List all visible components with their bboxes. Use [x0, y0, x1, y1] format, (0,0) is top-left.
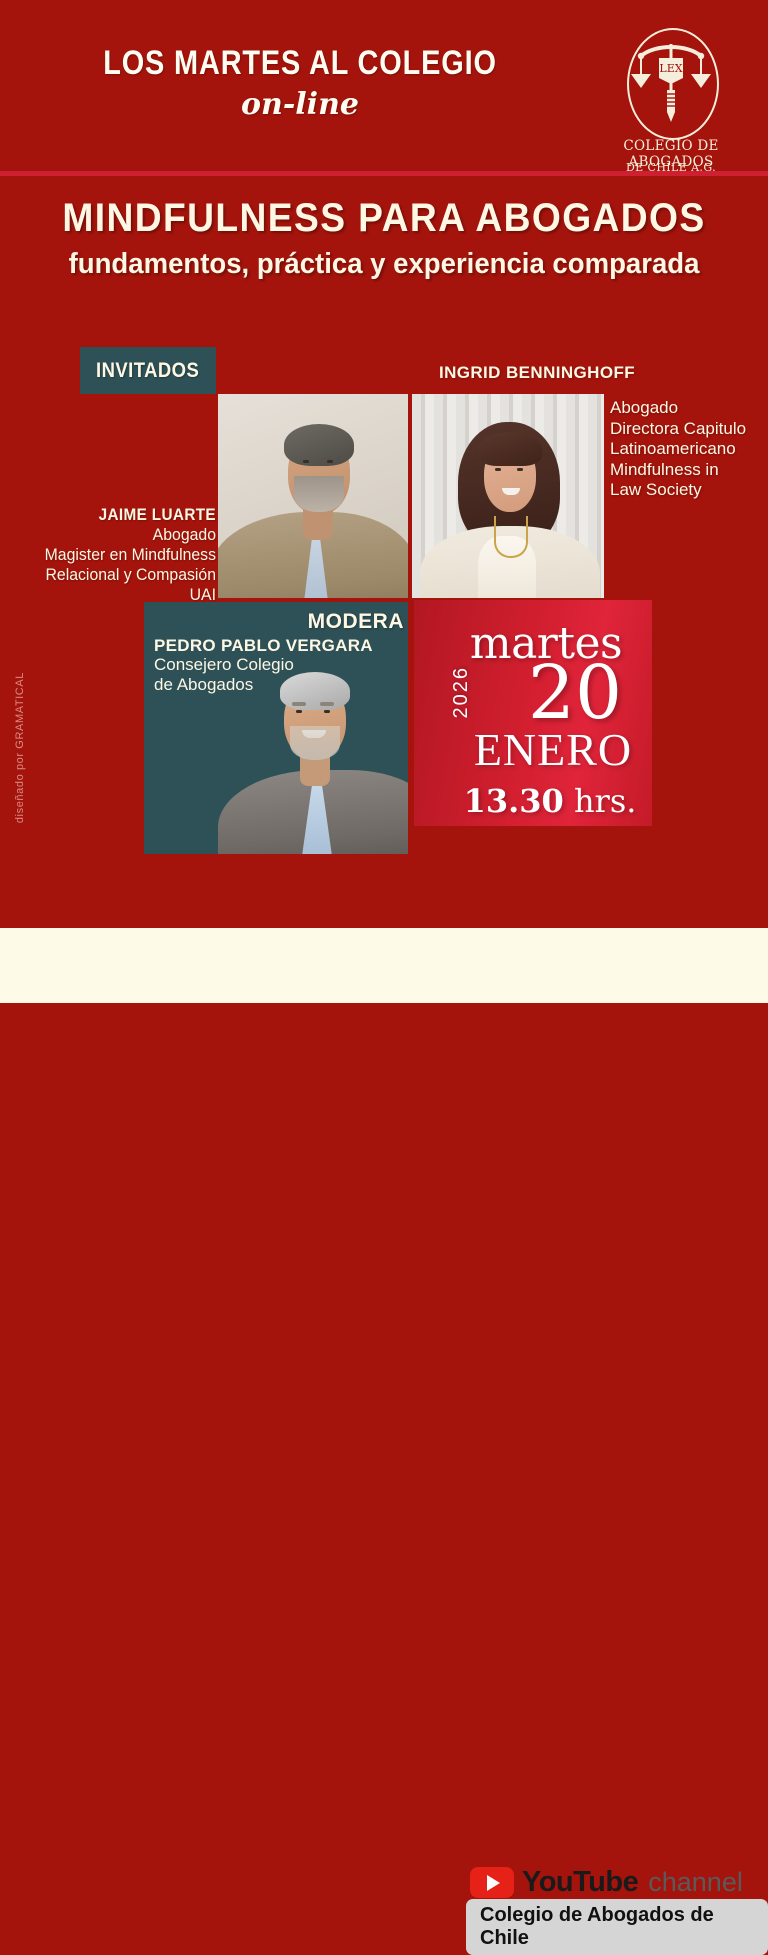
poster-canvas: LOS MARTES AL COLEGIO on-line LEX [0, 0, 768, 1024]
moderator-name: PEDRO PABLO VERGARA [154, 636, 404, 656]
speaker-right-role-4: Mindfulness in [610, 460, 768, 481]
play-triangle-icon [487, 1875, 500, 1891]
speaker-left-name: JAIME LUARTE [22, 505, 216, 525]
moderator-role-2: de Abogados [154, 675, 404, 695]
event-time-unit: hrs. [574, 782, 637, 820]
date-year: 2026 [450, 666, 473, 719]
event-subtitle: fundamentos, práctica y experiencia comp… [19, 248, 749, 281]
moderator-section-label: MODERA [140, 610, 410, 634]
speaker-left-info: JAIME LUARTE Abogado Magister en Mindful… [0, 505, 216, 605]
logo-oval-frame: LEX [627, 28, 719, 140]
lex-emblem-text: LEX [659, 62, 682, 75]
photo-eye-right [327, 460, 333, 463]
photo-beard [290, 726, 340, 760]
moderator-info: Consejero Colegio de Abogados [154, 655, 404, 695]
photo-eye-left [495, 468, 501, 471]
photo-eye-right [517, 468, 523, 471]
speaker-left-role-1: Abogado [15, 525, 216, 545]
series-subtitle: on-line [0, 87, 600, 122]
header-band: LOS MARTES AL COLEGIO on-line LEX [0, 0, 768, 171]
photo-fringe [478, 432, 542, 466]
speaker-right-info: Abogado Directora Capitulo Latinoamerica… [610, 398, 768, 501]
youtube-channel-name[interactable]: Colegio de Abogados de Chile [466, 1899, 768, 1955]
date-month: ENERO [454, 727, 652, 773]
photo-necklace [494, 516, 528, 558]
series-title: LOS MARTES AL COLEGIO [45, 44, 555, 83]
event-date-block: martes 2026 20 ENERO 13.30 hrs. [414, 600, 652, 826]
speaker-left-role-3: Relacional y Compasión UAI [15, 565, 216, 605]
youtube-channel-row[interactable]: YouTube channel [470, 1866, 743, 1899]
photo-eye-left [296, 710, 302, 713]
speaker-photo-jaime-luarte [218, 394, 408, 598]
speaker-right-role-2: Directora Capitulo [610, 419, 768, 440]
speaker-right-role-5: Law Society [610, 480, 768, 501]
photo-beard [294, 476, 344, 512]
guests-section-label: INVITADOS [80, 347, 216, 394]
event-title-group: MINDFULNESS PARA ABOGADOS fundamentos, p… [0, 196, 768, 281]
photo-eye-left [303, 460, 309, 463]
guests-section-label-text: INVITADOS [96, 359, 199, 383]
photo-brow-left [292, 702, 306, 706]
speaker-right-name: INGRID BENNINGHOFF [412, 363, 662, 383]
header-divider [0, 171, 768, 176]
date-day: 20 [498, 656, 652, 730]
youtube-play-icon[interactable] [470, 1867, 514, 1898]
speaker-photo-ingrid-benninghoff [412, 394, 604, 598]
scales-of-justice-icon: LEX [629, 30, 713, 134]
colegio-de-abogados-logo: LEX COLEGIO DE ABOGADOS DE CHILE A.G. [600, 28, 742, 168]
speaker-left-role-2: Magister en Mindfulness [15, 545, 216, 565]
speaker-right-role-3: Latinoamericano [610, 439, 768, 460]
photo-hair [284, 424, 354, 466]
speaker-right-role-1: Abogado [610, 398, 768, 419]
photo-eye-right [324, 710, 330, 713]
youtube-wordmark: YouTube [522, 1866, 638, 1899]
moderator-role-1: Consejero Colegio [154, 655, 404, 675]
designer-credit: diseñado por GRAMATICAL [14, 672, 26, 823]
youtube-channel-word: channel [648, 1867, 743, 1898]
footer-band: YouTube channel Colegio de Abogados de C… [0, 928, 768, 1003]
header-title-group: LOS MARTES AL COLEGIO on-line [0, 44, 600, 122]
event-time-number: 13.30 [464, 782, 564, 820]
event-time: 13.30 hrs. [414, 782, 652, 820]
event-title: MINDFULNESS PARA ABOGADOS [27, 196, 741, 241]
photo-brow-right [320, 702, 334, 706]
